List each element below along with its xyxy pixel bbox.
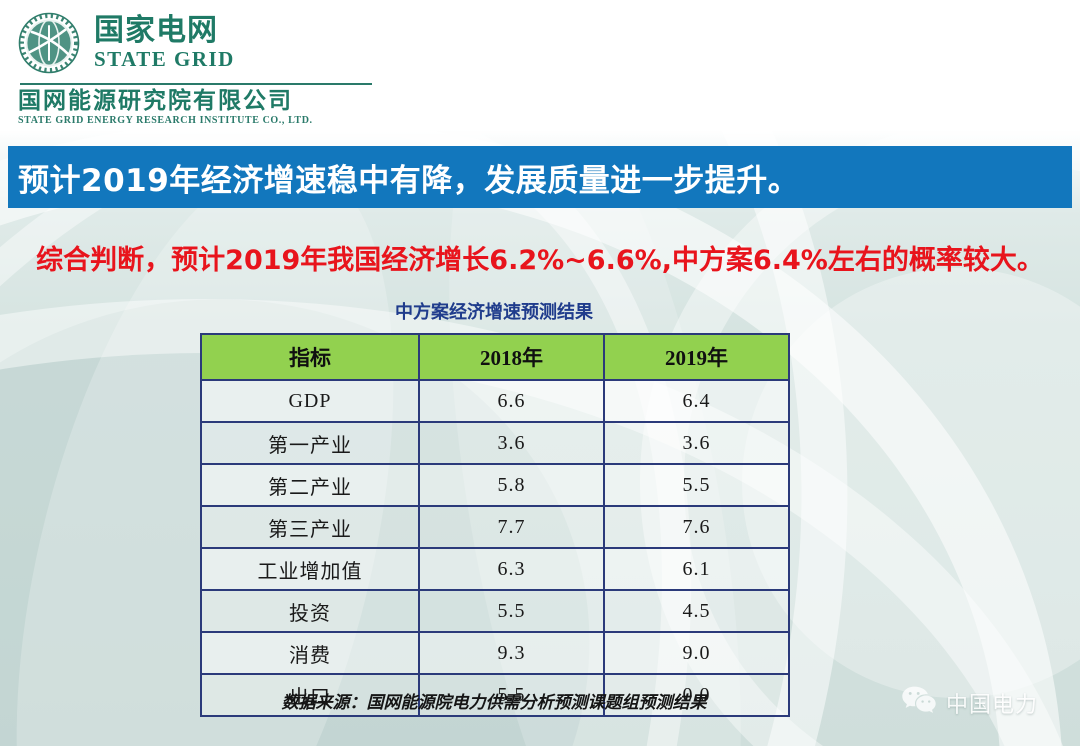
forecast-table: 指标 2018年 2019年 GDP 6.6 6.4 第一产业 3.6 3.6 … — [200, 333, 790, 717]
slide-canvas: 国家电网 STATE GRID 国网能源研究院有限公司 STATE GRID E… — [0, 0, 1080, 746]
table-row: 投资 5.5 4.5 — [201, 590, 789, 632]
table-row: 第二产业 5.8 5.5 — [201, 464, 789, 506]
table-cell-2019: 9.0 — [604, 632, 789, 674]
table-header-2019: 2019年 — [604, 334, 789, 380]
table-cell-2018: 7.7 — [419, 506, 604, 548]
table-cell-2019: 4.5 — [604, 590, 789, 632]
table-cell-indicator: 投资 — [201, 590, 419, 632]
watermark: 中国电力 — [901, 685, 1038, 720]
background-circle-highlight — [742, 268, 1080, 698]
table-cell-2018: 3.6 — [419, 422, 604, 464]
brand-logo-top: 国家电网 STATE GRID — [18, 8, 418, 78]
table-header-2018: 2018年 — [419, 334, 604, 380]
table-caption: 中方案经济增速预测结果 — [200, 298, 788, 324]
table-cell-2018: 5.5 — [419, 590, 604, 632]
slide-subtitle: 综合判断，预计2019年我国经济增长6.2%~6.6%,中方案6.4%左右的概率… — [0, 238, 1080, 277]
table-cell-indicator: 第三产业 — [201, 506, 419, 548]
table-cell-2019: 3.6 — [604, 422, 789, 464]
slide-title-text: 预计2019年经济增速稳中有降，发展质量进一步提升。 — [8, 155, 799, 200]
brand-wordmark: 国家电网 STATE GRID — [94, 16, 235, 70]
brand-company-cn: 国家电网 — [94, 16, 235, 46]
table-cell-indicator: 消费 — [201, 632, 419, 674]
brand-institute-cn: 国网能源研究院有限公司 — [18, 89, 418, 114]
table-cell-indicator: 第二产业 — [201, 464, 419, 506]
table-cell-2019: 5.5 — [604, 464, 789, 506]
brand-company-en: STATE GRID — [94, 49, 235, 70]
data-source-footnote: 数据来源：国网能源院电力供需分析预测课题组预测结果 — [200, 688, 788, 713]
brand-institute-en: STATE GRID ENERGY RESEARCH INSTITUTE CO.… — [18, 115, 418, 126]
table-header-row: 指标 2018年 2019年 — [201, 334, 789, 380]
table-header-indicator: 指标 — [201, 334, 419, 380]
table-row: 工业增加值 6.3 6.1 — [201, 548, 789, 590]
table-row: 第三产业 7.7 7.6 — [201, 506, 789, 548]
table-cell-2019: 6.4 — [604, 380, 789, 422]
table-cell-indicator: 工业增加值 — [201, 548, 419, 590]
table-row: 第一产业 3.6 3.6 — [201, 422, 789, 464]
table-cell-2018: 6.6 — [419, 380, 604, 422]
wechat-icon — [901, 685, 937, 720]
watermark-label: 中国电力 — [946, 687, 1038, 719]
brand-divider — [20, 83, 372, 85]
slide-title-bar: 预计2019年经济增速稳中有降，发展质量进一步提升。 — [8, 146, 1072, 208]
table-cell-2018: 9.3 — [419, 632, 604, 674]
table-cell-2018: 6.3 — [419, 548, 604, 590]
table-row: 消费 9.3 9.0 — [201, 632, 789, 674]
table-row: GDP 6.6 6.4 — [201, 380, 789, 422]
table-cell-2019: 6.1 — [604, 548, 789, 590]
table-cell-indicator: GDP — [201, 380, 419, 422]
table-cell-indicator: 第一产业 — [201, 422, 419, 464]
table-cell-2019: 7.6 — [604, 506, 789, 548]
brand-logo-block: 国家电网 STATE GRID 国网能源研究院有限公司 STATE GRID E… — [18, 8, 418, 128]
state-grid-globe-logo-icon — [18, 12, 80, 74]
table-cell-2018: 5.8 — [419, 464, 604, 506]
